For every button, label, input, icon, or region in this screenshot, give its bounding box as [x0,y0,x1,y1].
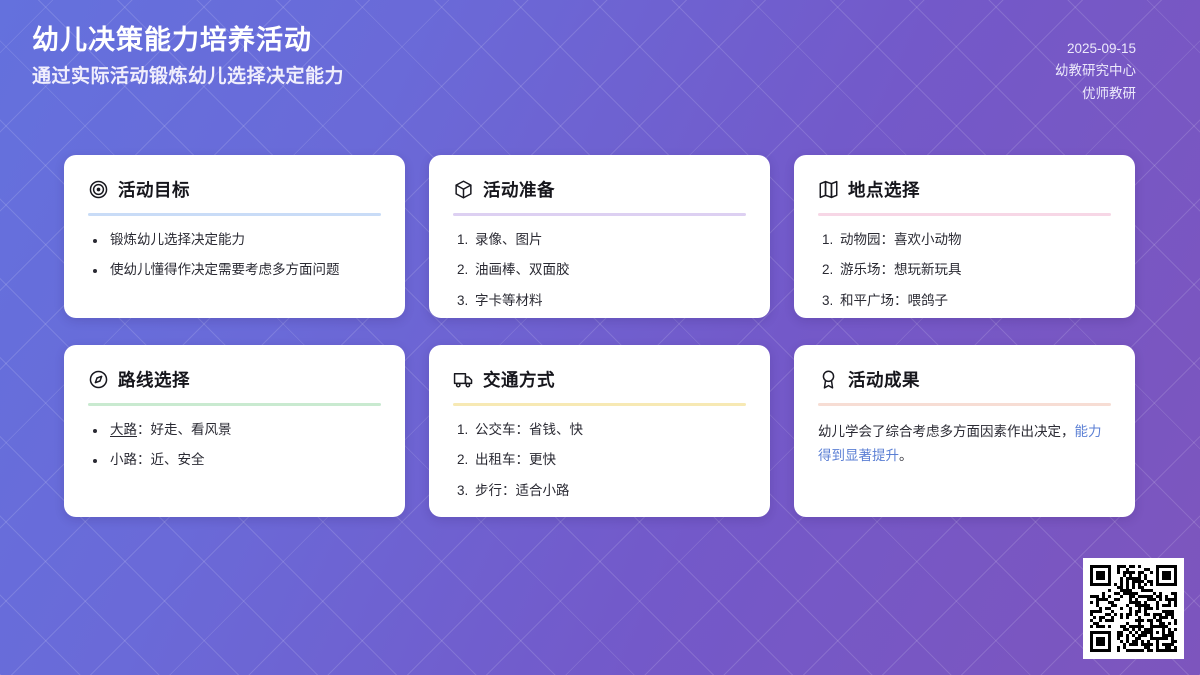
card-2: 活动准备录像、图片油画棒、双面胶字卡等材料 [429,155,770,318]
list-item: 锻炼幼儿选择决定能力 [107,230,381,250]
list-item-label: 字卡等材料 [475,293,543,308]
list-item-emphasis: 大路 [110,422,137,437]
card-header: 交通方式 [453,367,746,392]
card-title: 活动目标 [118,177,190,202]
list-item: 和平广场：喂鸽子 [837,291,1111,311]
card-body: 大路：好走、看风景小路：近、安全 [88,420,381,471]
list-item-label: 和平广场：喂鸽子 [840,293,948,308]
list-item-label: 使幼儿懂得作决定需要考虑多方面问题 [110,262,340,277]
card-title: 路线选择 [118,367,190,392]
list-item-label: ：好走、看风景 [137,422,232,437]
header-meta: 2025-09-15 幼教研究中心 优师教研 [1055,22,1136,105]
card-body: 锻炼幼儿选择决定能力使幼儿懂得作决定需要考虑多方面问题 [88,230,381,281]
card-6: 活动成果幼儿学会了综合考虑多方面因素作出决定，能力得到显著提升。 [794,345,1135,517]
list-item: 出租车：更快 [472,450,746,470]
card-header: 活动目标 [88,177,381,202]
map-icon [818,179,839,200]
list-item-label: 油画棒、双面胶 [475,262,570,277]
card-body: 录像、图片油画棒、双面胶字卡等材料 [453,230,746,311]
list-item: 油画棒、双面胶 [472,260,746,280]
header-title-block: 幼儿决策能力培养活动 通过实际活动锻炼幼儿选择决定能力 [32,22,344,91]
list-item-label: 公交车：省钱、快 [475,422,583,437]
card-title: 交通方式 [483,367,555,392]
card-body: 幼儿学会了综合考虑多方面因素作出决定，能力得到显著提升。 [818,420,1111,467]
card-title: 地点选择 [848,177,920,202]
paragraph-lead: 幼儿学会了综合考虑多方面因素作出决定， [818,424,1075,439]
qr-code[interactable] [1090,565,1177,652]
card-divider [453,403,746,406]
card-body: 动物园：喜欢小动物游乐场：想玩新玩具和平广场：喂鸽子 [818,230,1111,311]
package-icon [453,179,474,200]
slide-root: 幼儿决策能力培养活动 通过实际活动锻炼幼儿选择决定能力 2025-09-15 幼… [0,0,1200,675]
list-item: 字卡等材料 [472,291,746,311]
list-item-label: 游乐场：想玩新玩具 [840,262,962,277]
list-item-label: 动物园：喜欢小动物 [840,232,962,247]
card-list: 录像、图片油画棒、双面胶字卡等材料 [453,230,746,311]
card-list: 大路：好走、看风景小路：近、安全 [88,420,381,471]
page-title: 幼儿决策能力培养活动 [32,22,344,58]
card-header: 路线选择 [88,367,381,392]
card-grid: 活动目标锻炼幼儿选择决定能力使幼儿懂得作决定需要考虑多方面问题活动准备录像、图片… [64,155,1136,517]
card-divider [88,213,381,216]
list-item: 游乐场：想玩新玩具 [837,260,1111,280]
list-item: 步行：适合小路 [472,481,746,501]
list-item-label: 步行：适合小路 [475,483,570,498]
card-divider [453,213,746,216]
card-list: 公交车：省钱、快出租车：更快步行：适合小路 [453,420,746,501]
list-item-label: 锻炼幼儿选择决定能力 [110,232,245,247]
target-icon [88,179,109,200]
card-5: 交通方式公交车：省钱、快出租车：更快步行：适合小路 [429,345,770,517]
paragraph-tail: 。 [899,448,913,463]
card-body: 公交车：省钱、快出租车：更快步行：适合小路 [453,420,746,501]
list-item: 公交车：省钱、快 [472,420,746,440]
card-header: 活动准备 [453,177,746,202]
compass-icon [88,369,109,390]
header-brand: 优师教研 [1055,83,1136,105]
card-divider [88,403,381,406]
page-subtitle: 通过实际活动锻炼幼儿选择决定能力 [32,64,344,91]
card-divider [818,403,1111,406]
header-date: 2025-09-15 [1055,38,1136,60]
header-org: 幼教研究中心 [1055,60,1136,82]
card-title: 活动成果 [848,367,920,392]
list-item: 小路：近、安全 [107,450,381,470]
list-item-label: 出租车：更快 [475,452,556,467]
card-3: 地点选择动物园：喜欢小动物游乐场：想玩新玩具和平广场：喂鸽子 [794,155,1135,318]
card-divider [818,213,1111,216]
card-list: 动物园：喜欢小动物游乐场：想玩新玩具和平广场：喂鸽子 [818,230,1111,311]
list-item-label: 小路：近、安全 [110,452,205,467]
list-item-label: 录像、图片 [475,232,543,247]
slide-header: 幼儿决策能力培养活动 通过实际活动锻炼幼儿选择决定能力 2025-09-15 幼… [0,0,1200,140]
card-header: 地点选择 [818,177,1111,202]
card-4: 路线选择大路：好走、看风景小路：近、安全 [64,345,405,517]
truck-icon [453,369,474,390]
award-icon [818,369,839,390]
list-item: 使幼儿懂得作决定需要考虑多方面问题 [107,260,381,280]
list-item: 大路：好走、看风景 [107,420,381,440]
card-title: 活动准备 [483,177,555,202]
list-item: 动物园：喜欢小动物 [837,230,1111,250]
card-paragraph: 幼儿学会了综合考虑多方面因素作出决定，能力得到显著提升。 [818,420,1111,467]
qr-code-container [1083,558,1184,659]
card-list: 锻炼幼儿选择决定能力使幼儿懂得作决定需要考虑多方面问题 [88,230,381,281]
list-item: 录像、图片 [472,230,746,250]
card-1: 活动目标锻炼幼儿选择决定能力使幼儿懂得作决定需要考虑多方面问题 [64,155,405,318]
card-header: 活动成果 [818,367,1111,392]
